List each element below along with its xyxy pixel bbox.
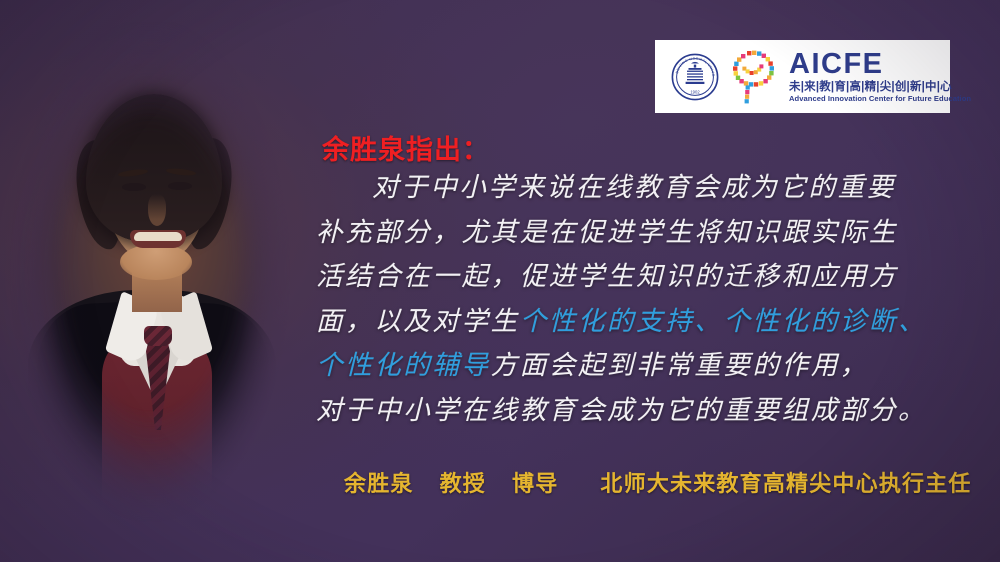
quote-body: 对于中小学来说在线教育会成为它的重要补充部分，尤其是在促进学生将知识跟实际生活结… bbox=[316, 166, 984, 434]
bnu-seal-icon: BEIJING NORMAL UNIVERSITY 1902 bbox=[671, 53, 719, 101]
aicfe-mosaic-svg bbox=[727, 49, 779, 105]
quote-text: 面，以及对学生 bbox=[316, 306, 520, 337]
quote-text: 补充部分，尤其是在促进学生将知识跟实际生 bbox=[316, 217, 898, 248]
aicfe-english-name: Advanced Innovation Center for Future Ed… bbox=[789, 95, 971, 103]
quote-text: 对于中小学在线教育会成为它的重要组成部分。 bbox=[316, 395, 927, 426]
quote-text: 方面会起到非常重要的作用， bbox=[491, 350, 869, 381]
quote-line: 补充部分，尤其是在促进学生将知识跟实际生 bbox=[316, 211, 984, 256]
attribution-title: 教授 bbox=[440, 472, 486, 497]
quote-line: 对于中小学在线教育会成为它的重要组成部分。 bbox=[316, 389, 984, 434]
quote-line: 个性化的辅导方面会起到非常重要的作用， bbox=[316, 344, 984, 389]
quote-line: 活结合在一起，促进学生知识的迁移和应用方 bbox=[316, 255, 984, 300]
attribution-position: 北师大未来教育高精尖中心执行主任 bbox=[600, 472, 971, 497]
portrait-image bbox=[0, 22, 300, 562]
quote-text: 活结合在一起，促进学生知识的迁移和应用方 bbox=[316, 261, 898, 292]
bnu-seal-year: 1902 bbox=[690, 89, 700, 94]
attribution-name: 余胜泉 bbox=[344, 472, 414, 497]
bnu-seal-svg: BEIJING NORMAL UNIVERSITY 1902 bbox=[671, 53, 719, 101]
aicfe-wordmark: AICFE 未|来|教|育|高|精|尖|创|新|中|心 Advanced Inn… bbox=[789, 50, 971, 103]
portrait-of-yu-shengquan bbox=[0, 22, 300, 562]
aicfe-logo-box: BEIJING NORMAL UNIVERSITY 1902 bbox=[655, 40, 950, 113]
quote-highlight-text: 个性化的支持、个性化的诊断、 bbox=[520, 306, 927, 337]
quote-line: 面，以及对学生个性化的支持、个性化的诊断、 bbox=[316, 300, 984, 345]
aicfe-chinese-name: 未|来|教|育|高|精|尖|创|新|中|心 bbox=[789, 82, 971, 94]
quote-text: 对于中小学来说在线教育会成为它的重要 bbox=[372, 172, 896, 203]
attribution-credential: 博导 bbox=[512, 472, 558, 497]
quote-line: 对于中小学来说在线教育会成为它的重要 bbox=[316, 166, 984, 211]
portrait-edge-fade bbox=[0, 22, 300, 562]
attribution-line: 余胜泉教授博导北师大未来教育高精尖中心执行主任 bbox=[344, 466, 972, 498]
aicfe-mosaic-emblem-icon bbox=[727, 49, 779, 105]
presentation-slide: BEIJING NORMAL UNIVERSITY 1902 bbox=[0, 0, 1000, 562]
aicfe-acronym: AICFE bbox=[789, 50, 971, 79]
page-title: 余胜泉指出： bbox=[322, 128, 490, 167]
quote-highlight-text: 个性化的辅导 bbox=[316, 350, 491, 381]
